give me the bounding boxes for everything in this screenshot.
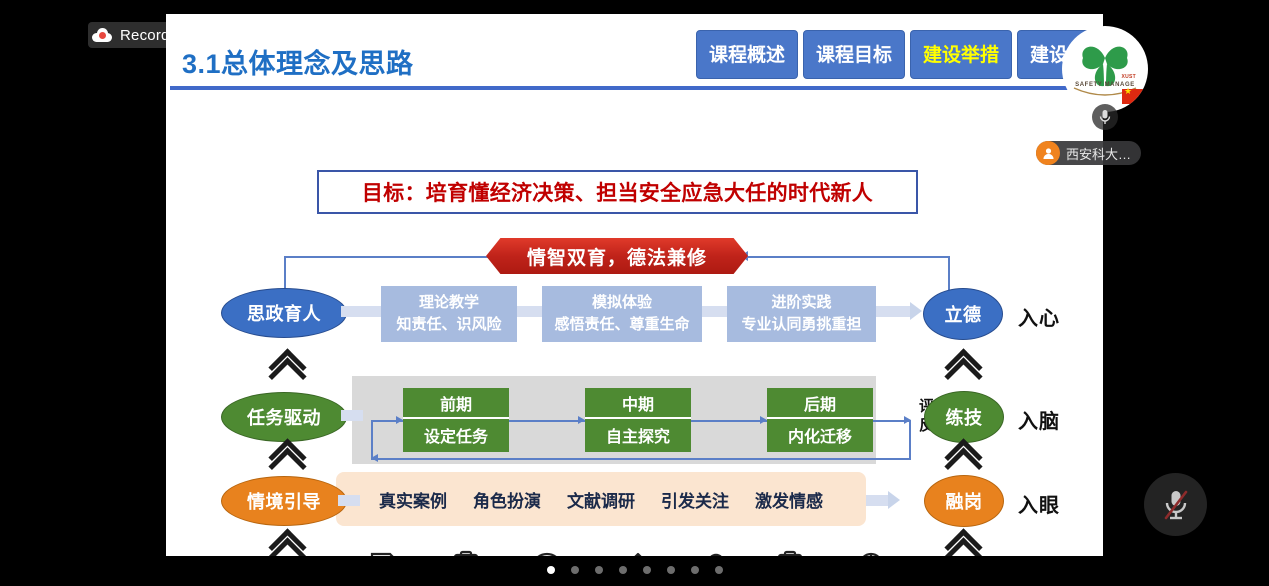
stage-title: 进阶实践 [771, 292, 831, 314]
page-dot[interactable] [619, 566, 627, 574]
phase-box-middle: 中期 自主探究 [585, 388, 691, 452]
page-dot[interactable] [691, 566, 699, 574]
resource-question-bank[interactable]: 题库 [587, 550, 668, 556]
connector-left-horizontal [284, 256, 488, 258]
node-context-guidance: 情境引导 [221, 476, 347, 526]
page-dot[interactable] [643, 566, 651, 574]
page-dot[interactable] [595, 566, 603, 574]
stage-box-simulation: 模拟体验 感悟责任、尊重生命 [542, 286, 702, 342]
effect-ruyan: 入眼 [1018, 489, 1060, 518]
outcome-rongang: 融岗 [924, 475, 1004, 527]
tab-course-overview[interactable]: 课程概述 [696, 30, 798, 79]
cloud-record-icon [92, 28, 112, 42]
logo-text-main: SAFETY MANAGE [1062, 82, 1148, 88]
stage-detail: 知责任、识风险 [396, 314, 501, 336]
stage-detail: 感悟责任、尊重生命 [554, 314, 689, 336]
effect-runao: 入脑 [1018, 405, 1060, 434]
phase-detail: 内化迁移 [767, 419, 873, 450]
flag-icon [1122, 89, 1144, 104]
outcome-lide: 立德 [923, 288, 1003, 340]
resource-literature[interactable]: 文献 [830, 550, 911, 556]
chevron-up-icon [270, 534, 304, 556]
phase-title: 前期 [403, 388, 509, 419]
resource-self-textbook[interactable]: 自编教材 [344, 550, 425, 556]
stage-box-theory: 理论教学 知责任、识风险 [381, 286, 517, 342]
context-item: 真实案例 [379, 487, 447, 512]
effect-ruxin: 入心 [1018, 302, 1060, 331]
phase-detail: 自主探究 [585, 419, 691, 450]
phase-box-early: 前期 设定任务 [403, 388, 509, 452]
stage-box-practice: 进阶实践 专业认同勇挑重担 [727, 286, 876, 342]
page-dot[interactable] [571, 566, 579, 574]
phase-title: 中期 [585, 388, 691, 419]
person-icon [1036, 141, 1060, 165]
document-search-icon [365, 550, 405, 556]
phase-box-late: 后期 内化迁移 [767, 388, 873, 452]
philosophy-banner: 情智双育，德法兼修 [486, 238, 748, 274]
flow-arrow-icon [910, 302, 922, 320]
philosophy-banner-text: 情智双育，德法兼修 [527, 243, 707, 270]
page-dot[interactable] [715, 566, 723, 574]
goal-banner-text: 目标：培育懂经济决策、担当安全应急大任的时代新人 [362, 177, 873, 207]
slide-body: 目标：培育懂经济决策、担当安全应急大任的时代新人 情智双育，德法兼修 思政育人 … [166, 86, 1103, 556]
pencil-icon [608, 550, 648, 556]
context-item: 激发情感 [755, 487, 823, 512]
resource-icon-list: 自编教材 课件 [344, 550, 911, 556]
tab-construction-measures[interactable]: 建设举措 [910, 30, 1012, 79]
clipboard-icon [446, 550, 486, 556]
row-context-guidance: 真实案例 角色扮演 文献调研 引发关注 激发情感 情境引导 融岗 入眼 [166, 476, 1103, 532]
chevron-up-icon [270, 354, 304, 384]
chevron-up-icon [946, 354, 980, 384]
goal-banner: 目标：培育懂经济决策、担当安全应急大任的时代新人 [317, 170, 918, 214]
page-dot[interactable] [667, 566, 675, 574]
resource-courseware[interactable]: 课件 [425, 550, 506, 556]
microphone-icon [1092, 104, 1118, 130]
context-item: 引发关注 [661, 487, 729, 512]
stage-title: 模拟体验 [592, 292, 652, 314]
chain-link-icon [689, 550, 729, 556]
flow-arrow-icon [888, 491, 900, 509]
node-task-driven: 任务驱动 [221, 392, 347, 442]
resource-micro-video[interactable]: 微课视频 [506, 550, 587, 556]
star-circle-icon [527, 550, 567, 556]
microphone-muted-icon[interactable] [1144, 473, 1207, 536]
presentation-slide: 3.1总体理念及思路 课程概述 课程目标 建设举措 建设成 目标：培育懂经济决策… [166, 14, 1103, 556]
slide-header: 3.1总体理念及思路 课程概述 课程目标 建设举措 建设成 [166, 14, 1103, 86]
page-dot[interactable] [547, 566, 555, 574]
outcome-lianji: 练技 [924, 391, 1004, 443]
phase-title: 后期 [767, 388, 873, 419]
chevron-up-icon [270, 444, 304, 474]
context-item: 文献调研 [567, 487, 635, 512]
mouse-icon [851, 550, 891, 556]
resource-case[interactable]: 案例 [749, 550, 830, 556]
slide-tabs: 课程概述 课程目标 建设举措 建设成 [696, 30, 1100, 79]
row-ideological-education: 思政育人 理论教学 知责任、识风险 模拟体验 感悟责任、尊重生命 进阶实践 专业… [166, 286, 1103, 346]
node-ideological-education: 思政育人 [221, 288, 347, 338]
context-items-panel: 真实案例 角色扮演 文献调研 引发关注 激发情感 [336, 472, 866, 526]
clover-logo-icon: SAFETY MANAGE XUST [1062, 26, 1148, 112]
chevron-up-icon [946, 534, 980, 556]
resource-reference-books[interactable]: 参考书籍 [668, 550, 749, 556]
participant-name: 西安科大… [1066, 144, 1131, 163]
connector-right-horizontal [746, 256, 950, 258]
page-title: 3.1总体理念及思路 [182, 42, 414, 81]
screen-root: Recording 3.1总体理念及思路 课程概述 课程目标 建设举措 建设成 … [0, 0, 1269, 586]
stage-title: 理论教学 [419, 292, 479, 314]
logo-text-sub: XUST [1121, 74, 1136, 80]
context-item: 角色扮演 [473, 487, 541, 512]
page-indicator [0, 566, 1269, 574]
tab-course-goals[interactable]: 课程目标 [803, 30, 905, 79]
phase-detail: 设定任务 [403, 419, 509, 450]
chevron-up-icon [946, 444, 980, 474]
clipboard-icon [770, 550, 810, 556]
stage-detail: 专业认同勇挑重担 [741, 314, 861, 336]
participant-badge: 西安科大… [1036, 141, 1141, 165]
